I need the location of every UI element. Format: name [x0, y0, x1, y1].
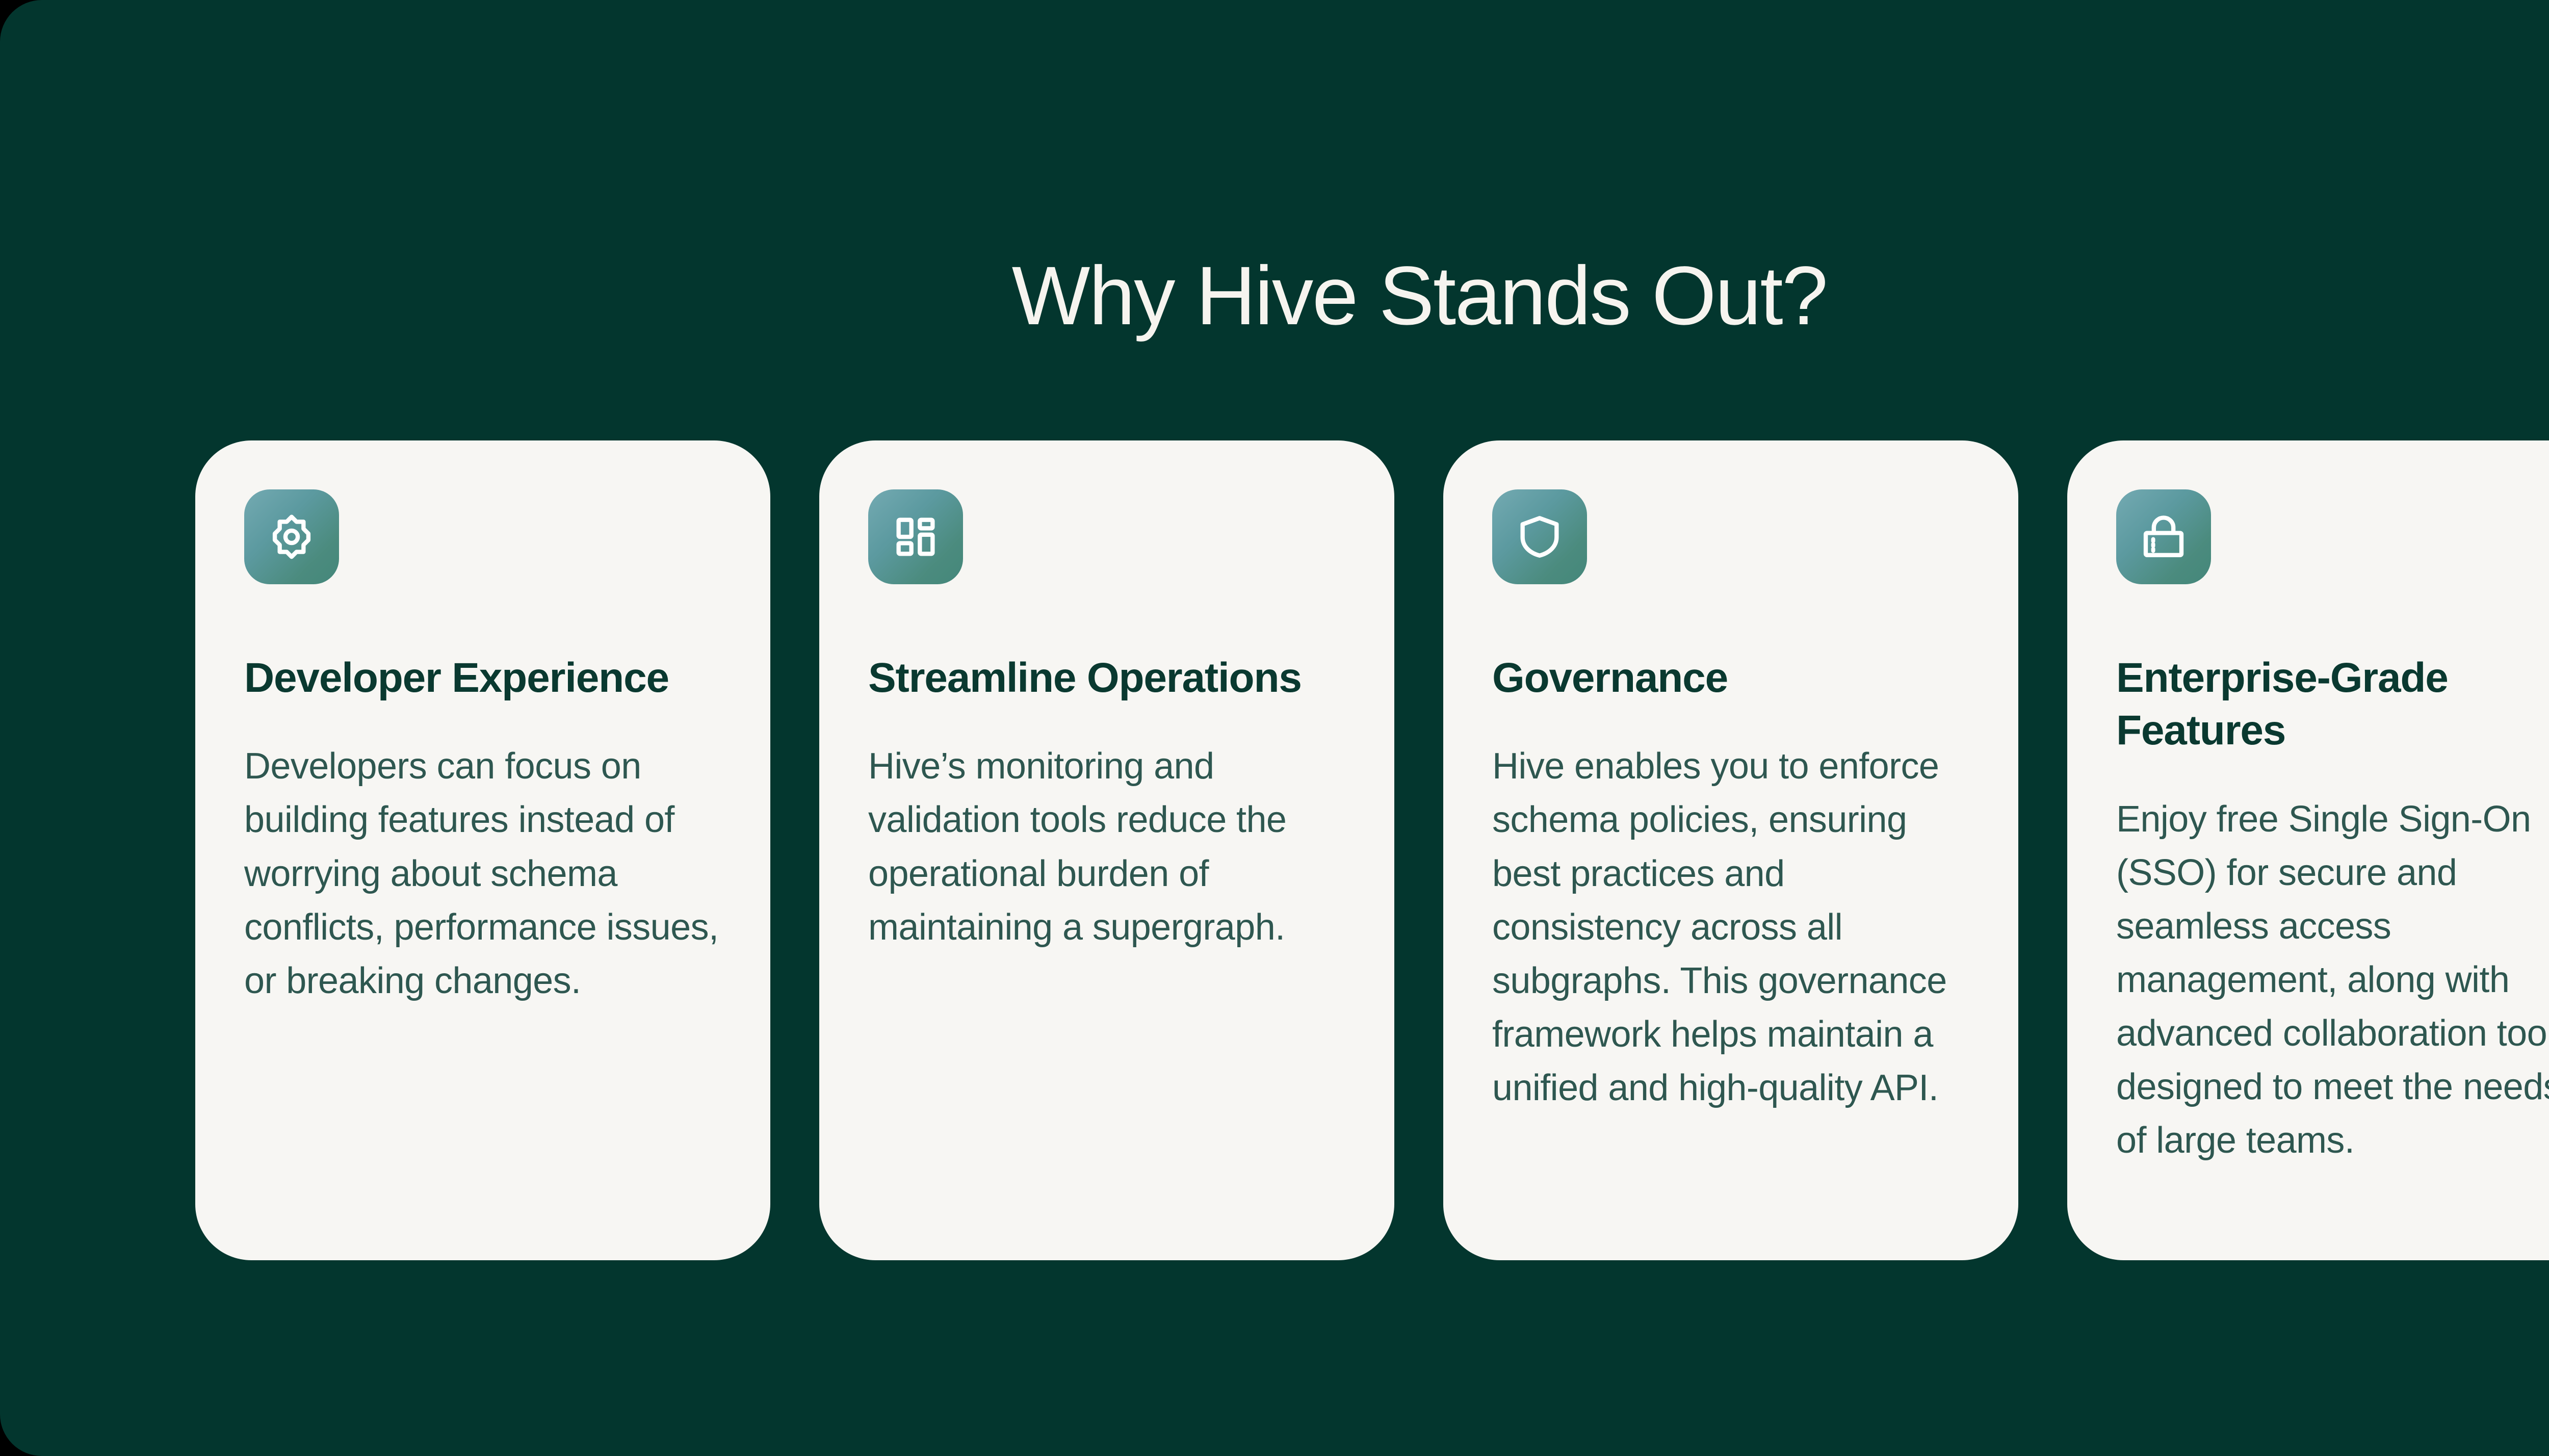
page-title: Why Hive Stands Out? — [0, 249, 2549, 343]
feature-card-developer-experience[interactable]: Developer Experience Developers can focu… — [195, 440, 770, 1260]
feature-card-heading: Governance — [1492, 652, 1728, 704]
feature-card-body: Hive enables you to enforce schema polic… — [1492, 740, 1971, 1115]
gear-icon — [244, 489, 339, 584]
feature-card-body: Hive’s monitoring and validation tools r… — [868, 740, 1347, 954]
feature-card-heading: Developer Experience — [244, 652, 669, 704]
shield-icon — [1492, 489, 1587, 584]
feature-card-enterprise-grade-features[interactable]: Enterprise-Grade Features Enjoy free Sin… — [2067, 440, 2549, 1260]
layout-dashboard-icon — [868, 489, 963, 584]
feature-card-heading: Enterprise-Grade Features — [2116, 652, 2549, 757]
lock-icon — [2116, 489, 2211, 584]
feature-card-heading: Streamline Operations — [868, 652, 1302, 704]
feature-section: Why Hive Stands Out? Developer Experienc… — [0, 0, 2549, 1456]
feature-card-governance[interactable]: Governance Hive enables you to enforce s… — [1443, 440, 2018, 1260]
feature-card-list: Developer Experience Developers can focu… — [195, 440, 2549, 1260]
feature-card-body: Developers can focus on building feature… — [244, 740, 723, 1008]
feature-card-streamline-operations[interactable]: Streamline Operations Hive’s monitoring … — [819, 440, 1394, 1260]
feature-card-body: Enjoy free Single Sign-On (SSO) for secu… — [2116, 793, 2549, 1168]
